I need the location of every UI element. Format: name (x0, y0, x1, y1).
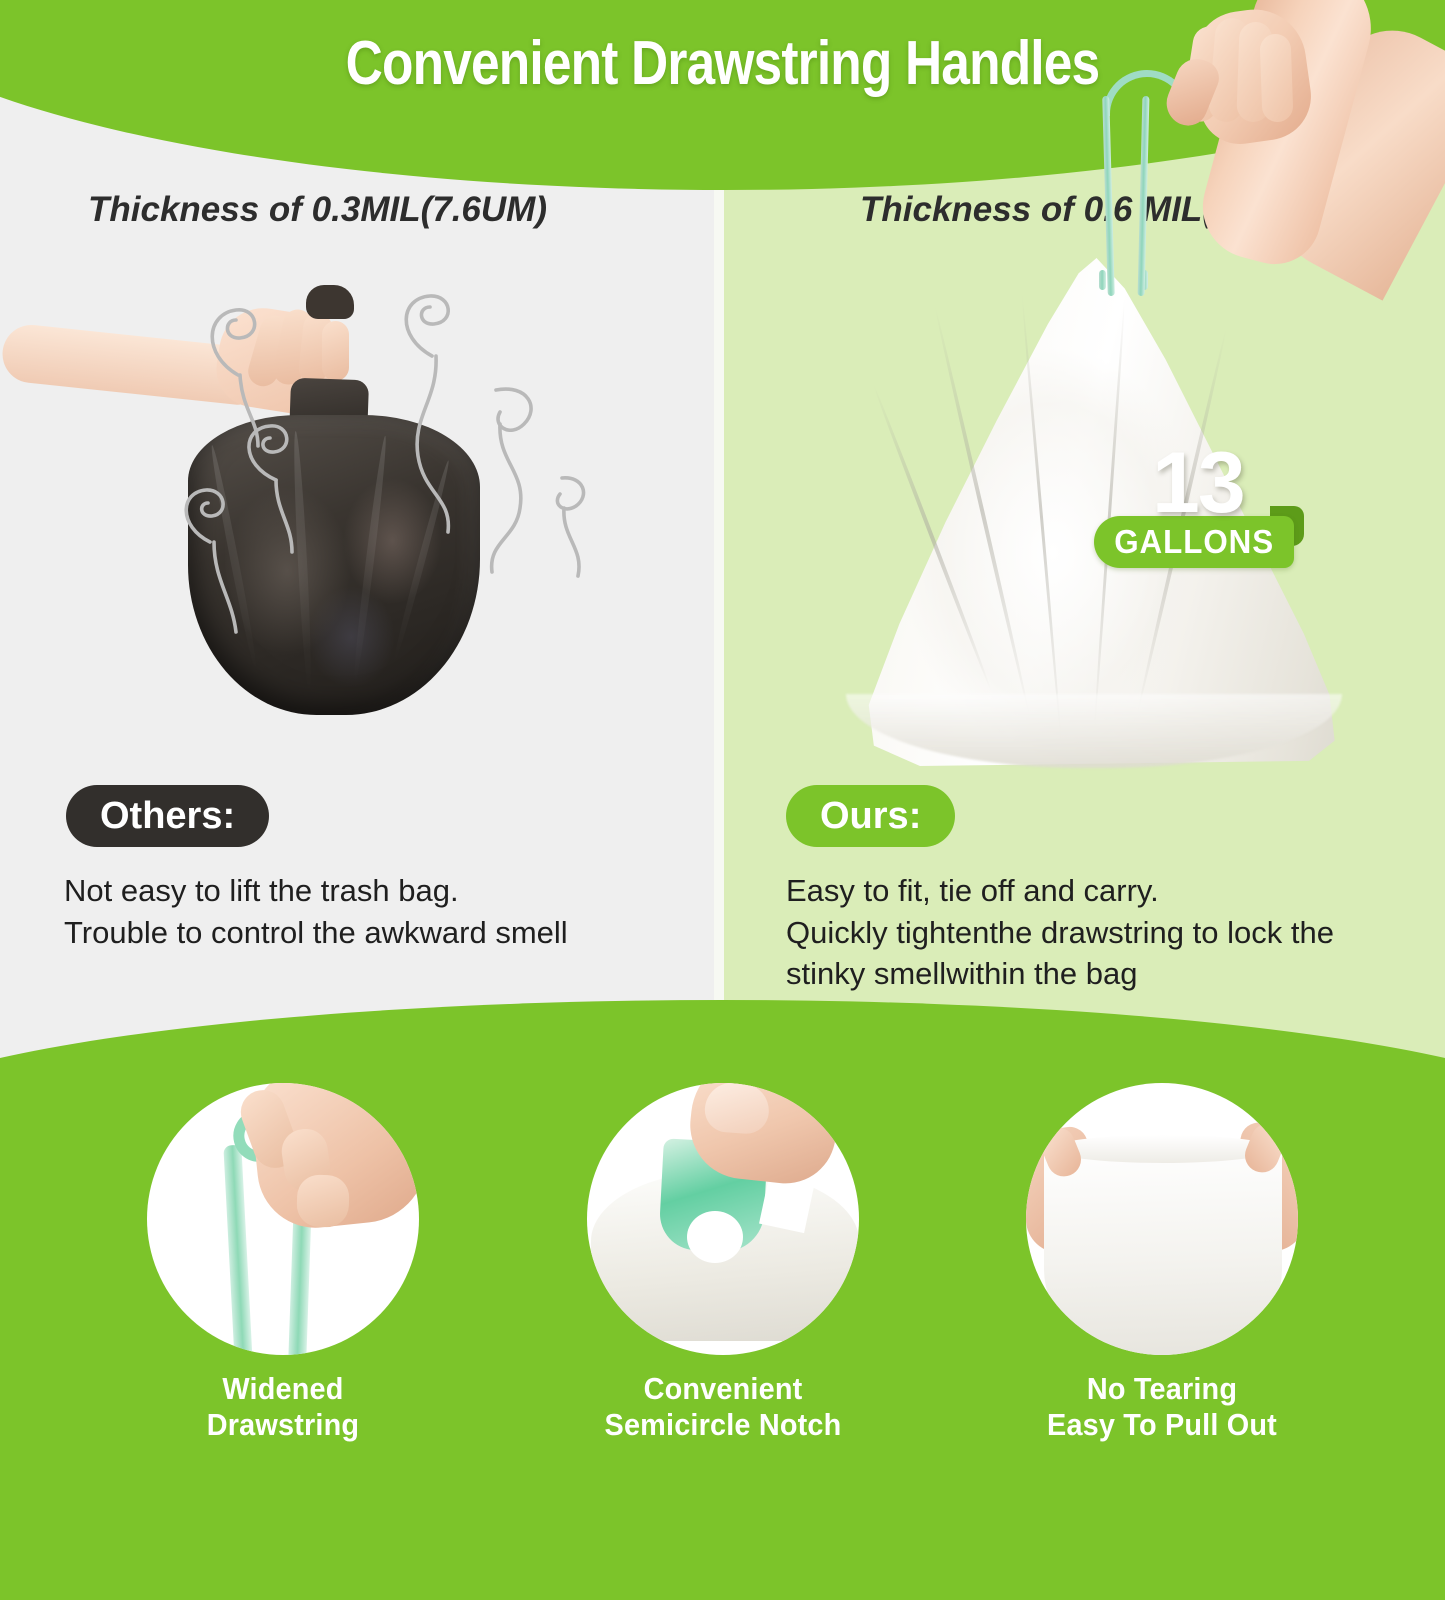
drawstring-cord (1099, 270, 1106, 290)
copy-line: Easy to fit, tie off and carry. (786, 870, 1386, 912)
feature-label-line2: Easy To Pull Out (1023, 1407, 1302, 1443)
feature-photo (1026, 1083, 1298, 1355)
bag-lip (1050, 1135, 1276, 1163)
badge-others: Others: (66, 785, 269, 847)
feature-label: Convenient Semicircle Notch (584, 1371, 863, 1443)
panel-divider (714, 150, 724, 1060)
feature-label: No Tearing Easy To Pull Out (1023, 1371, 1302, 1443)
semicircle-notch (687, 1211, 743, 1263)
bag-sheet (1044, 1141, 1282, 1355)
drawstring-strap (223, 1145, 252, 1355)
page-title: Convenient Drawstring Handles (123, 28, 1322, 99)
thickness-label-others: Thickness of 0.3MIL(7.6UM) (88, 190, 547, 230)
infographic-root: 13 GALLONS Thickness of 0.3MIL(7.6UM) Th… (0, 0, 1445, 1445)
smell-squiggles-icon (180, 280, 600, 710)
feature-photo (147, 1083, 419, 1355)
copy-line: Trouble to control the awkward smell (64, 912, 568, 954)
feature-label: Widened Drawstring (144, 1371, 423, 1443)
feature-semicircle-notch: Convenient Semicircle Notch (573, 1083, 873, 1443)
copy-line: Not easy to lift the trash bag. (64, 870, 568, 912)
feature-label-line2: Drawstring (144, 1407, 423, 1443)
feature-photo (587, 1083, 859, 1355)
copy-line: Quickly tightenthe drawstring to lock th… (786, 912, 1386, 954)
feature-label-line1: No Tearing (1023, 1371, 1302, 1407)
badge-ours: Ours: (786, 785, 955, 847)
feature-no-tearing: No Tearing Easy To Pull Out (1012, 1083, 1312, 1443)
finger (296, 1174, 350, 1228)
thumbnail (703, 1083, 770, 1135)
feature-label-line1: Widened (144, 1371, 423, 1407)
feature-label-line2: Semicircle Notch (584, 1407, 863, 1443)
copy-others: Not easy to lift the trash bag. Trouble … (64, 870, 568, 953)
feature-label-line1: Convenient (584, 1371, 863, 1407)
capacity-number: 13 (1152, 434, 1244, 533)
copy-line: stinky smellwithin the bag (786, 953, 1386, 995)
copy-ours: Easy to fit, tie off and carry. Quickly … (786, 870, 1386, 995)
feature-widened-drawstring: Widened Drawstring (133, 1083, 433, 1443)
